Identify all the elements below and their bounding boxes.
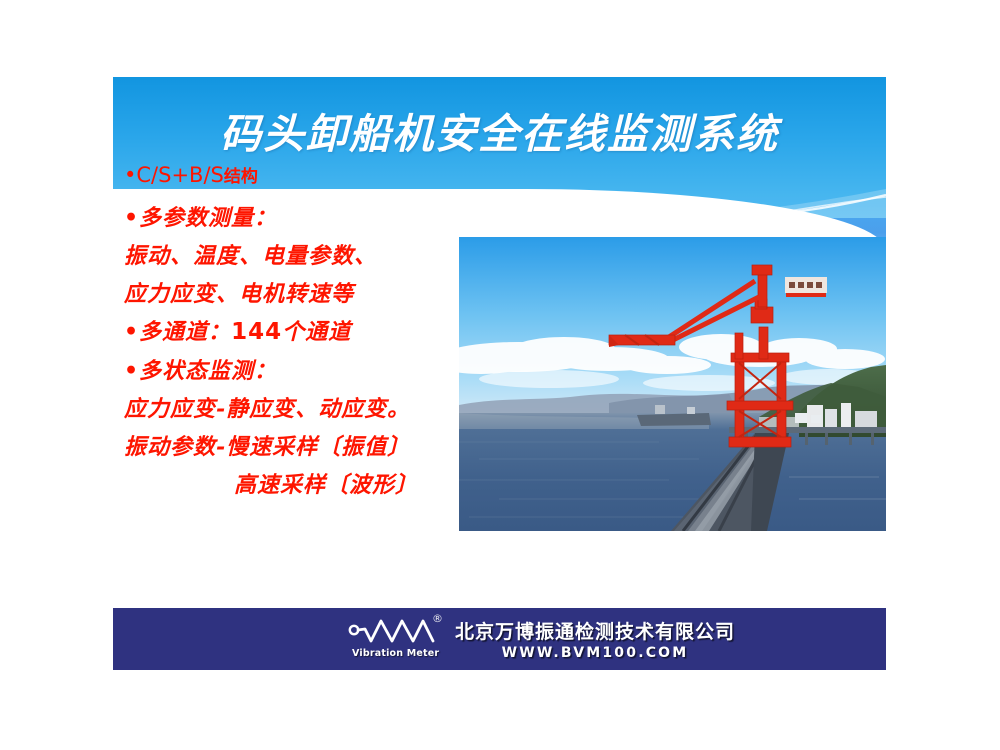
list-item: 应力应变、电机转速等 xyxy=(124,283,474,305)
channel-count: 144 xyxy=(231,319,282,345)
bullet-list: •C/S+B/S结构 •多参数测量： 振动、温度、电量参数、 应力应变、电机转速… xyxy=(124,165,474,512)
list-item: 振动参数-慢速采样〔振值〕 xyxy=(124,436,474,458)
bullet-text-latin: •C/S+B/S xyxy=(124,163,224,187)
channel-suffix: 个通道 xyxy=(282,319,351,345)
footer-bar: ® Vibration Meter 北京万博振通检测技术有限公司 WWW.BVM… xyxy=(113,608,886,670)
channel-label: •多通道： xyxy=(124,319,231,345)
list-item: 应力应变-静应变、动应变。 xyxy=(124,398,474,420)
logo-subtitle: Vibration Meter xyxy=(352,648,439,659)
list-item: •多参数测量： xyxy=(124,207,474,229)
registered-trademark-icon: ® xyxy=(432,612,443,625)
list-item: •多通道：144个通道 xyxy=(124,321,474,344)
company-name: 北京万博振通检测技术有限公司 xyxy=(455,617,735,644)
presentation-slide: 码头卸船机安全在线监测系统 •C/S+B/S结构 •多参数测量： 振动、温度、电… xyxy=(113,77,886,670)
vibration-waveform-icon xyxy=(345,614,441,648)
company-logo: ® Vibration Meter xyxy=(345,612,449,664)
bullet-text-cn: 结构 xyxy=(224,167,258,187)
footer-text-block: 北京万博振通检测技术有限公司 WWW.BVM100.COM xyxy=(455,617,735,661)
list-item: 振动、温度、电量参数、 xyxy=(124,245,474,267)
footer-content: ® Vibration Meter 北京万博振通检测技术有限公司 WWW.BVM… xyxy=(345,612,735,664)
list-item: •C/S+B/S结构 xyxy=(124,165,474,186)
list-item: 高速采样〔波形〕 xyxy=(124,474,474,496)
page-title: 码头卸船机安全在线监测系统 xyxy=(113,100,886,160)
ship-unloader-photo xyxy=(459,237,886,531)
list-item: •多状态监测： xyxy=(124,360,474,382)
company-website: WWW.BVM100.COM xyxy=(455,645,735,661)
